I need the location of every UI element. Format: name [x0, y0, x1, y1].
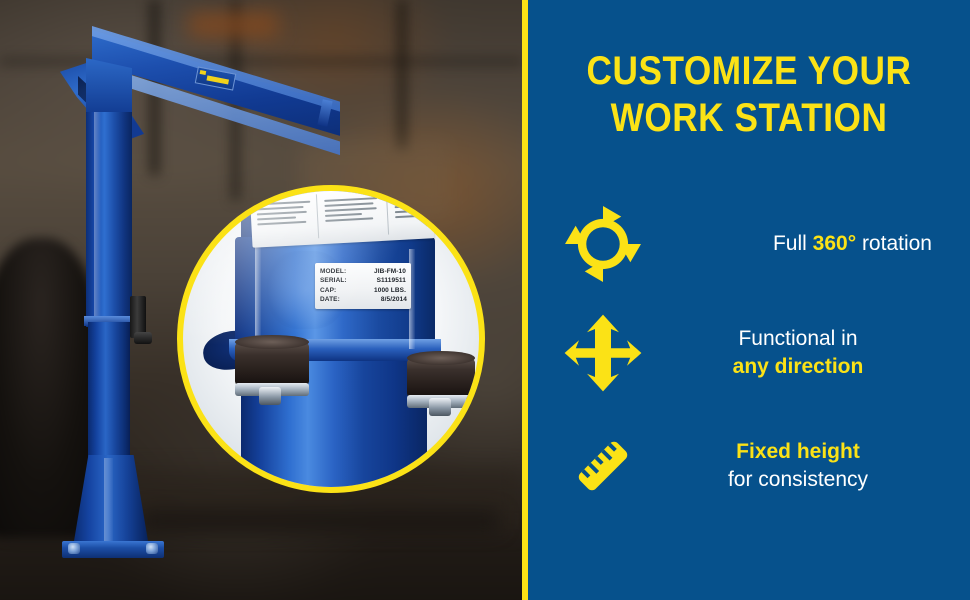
- feature-height-text: Fixed height for consistency: [678, 438, 970, 494]
- spec-value-cap: 1000 LBS.: [374, 286, 406, 295]
- headline-line-2: WORK STATION: [555, 95, 944, 142]
- feature-direction: Functional in any direction: [528, 305, 970, 401]
- roller-bearing-top: [407, 351, 475, 365]
- product-infographic: MODEL: JIB-FM-10 SERIAL: S1119511 CAP: 1…: [0, 0, 970, 600]
- roller-bearing-top: [235, 335, 309, 349]
- feature-height-line-2: for consistency: [678, 466, 918, 494]
- base-bolt: [68, 543, 80, 554]
- feature-rotation-highlight: 360°: [813, 232, 856, 255]
- spec-row: SERIAL: S1119511: [320, 276, 406, 285]
- safety-warning-sticker: [250, 185, 435, 248]
- spec-label-model: MODEL:: [320, 267, 346, 276]
- feature-rotation: Full 360° rotation: [528, 196, 970, 292]
- headline-line-1: CUSTOMIZE YOUR: [587, 49, 912, 93]
- feature-height: Fixed height for consistency: [528, 418, 970, 514]
- features-panel: CUSTOMIZE YOUR WORK STATION Full 360° ro…: [528, 0, 970, 600]
- collar-seam: [255, 241, 261, 345]
- rotate-360-icon: [528, 206, 678, 282]
- ruler-icon: [528, 427, 678, 505]
- crane-clamp-knob: [134, 332, 152, 344]
- spec-value-serial: S1119511: [377, 276, 406, 285]
- spec-row: MODEL: JIB-FM-10: [320, 267, 406, 276]
- page-title: CUSTOMIZE YOUR WORK STATION: [555, 48, 944, 142]
- crane-mast-rib: [104, 458, 113, 554]
- spec-row: DATE: 8/5/2014: [320, 295, 406, 304]
- product-photo: MODEL: JIB-FM-10 SERIAL: S1119511 CAP: 1…: [0, 0, 522, 600]
- spec-label-serial: SERIAL:: [320, 276, 347, 285]
- spec-plate: MODEL: JIB-FM-10 SERIAL: S1119511 CAP: 1…: [315, 263, 411, 309]
- spec-value-date: 8/5/2014: [381, 295, 407, 304]
- feature-direction-line-1: Functional in: [678, 325, 918, 353]
- feature-rotation-text: Full 360° rotation: [678, 230, 970, 258]
- roller-hub: [429, 398, 451, 416]
- feature-direction-line-2: any direction: [678, 353, 918, 381]
- spec-label-date: DATE:: [320, 295, 340, 304]
- feature-rotation-prefix: Full: [773, 232, 813, 255]
- spec-row: CAP: 1000 LBS.: [320, 286, 406, 295]
- feature-direction-text: Functional in any direction: [678, 325, 970, 381]
- spec-label-cap: CAP:: [320, 286, 336, 295]
- feature-rotation-suffix: rotation: [856, 232, 932, 255]
- magnifier-inset: MODEL: JIB-FM-10 SERIAL: S1119511 CAP: 1…: [177, 185, 485, 493]
- four-way-arrows-icon: [528, 313, 678, 393]
- spec-value-model: JIB-FM-10: [374, 267, 406, 276]
- roller-hub: [259, 387, 281, 405]
- base-bolt: [146, 543, 158, 554]
- feature-height-line-1: Fixed height: [678, 438, 918, 466]
- decal-mark: [200, 70, 207, 75]
- crane-mast-upper: [86, 112, 132, 327]
- decal-mark: [206, 75, 229, 84]
- crane-mast-highlight: [94, 112, 101, 327]
